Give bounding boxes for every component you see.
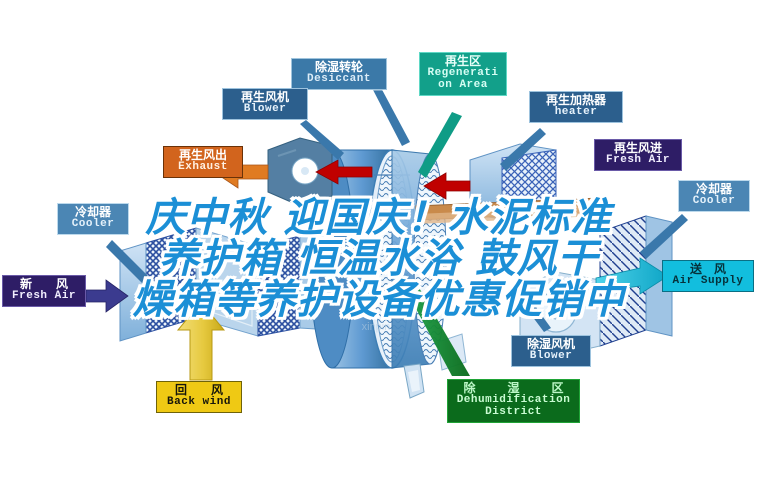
watermark: xinpin [362,321,391,333]
diagram-canvas: xinpin 除湿转轮 Desiccant 再生风机 Blower 再生区 Re… [0,0,757,488]
label-en: Air Supply [668,276,748,288]
label-cn: 再生风出 [169,149,237,162]
label-cn: 再生风机 [228,91,302,104]
label-dehumidification-district[interactable]: 除 湿 区 Dehumidification District [447,379,580,423]
label-en: Blower [517,351,585,363]
label-regeneration-blower[interactable]: 再生风机 Blower [222,88,308,120]
label-cooler-right[interactable]: 冷却器 Cooler [678,180,750,212]
label-cn: 新 风 [8,278,80,291]
label-fresh-air-inlet[interactable]: 新 风 Fresh Air [2,275,86,307]
label-en-line2: on Area [425,80,501,92]
label-en: Cooler [63,219,123,231]
label-air-supply[interactable]: 送 风 Air Supply [662,260,754,292]
label-cn: 冷却器 [684,183,744,196]
lower-duct [404,364,424,398]
label-regeneration-exhaust[interactable]: 再生风出 Exhaust [163,146,243,178]
label-cn: 除 湿 区 [453,382,574,395]
label-cn: 再生区 [425,55,501,68]
label-cooler-left[interactable]: 冷却器 Cooler [57,203,129,235]
label-regeneration-fresh-air-in[interactable]: 再生风进 Fresh Air [594,139,682,171]
label-en: Back wind [162,397,236,409]
label-cn: 除湿转轮 [297,61,381,74]
label-en-line2: District [453,407,574,419]
label-regeneration-area[interactable]: 再生区 Regenerati on Area [419,52,507,96]
label-cn: 除湿风机 [517,338,585,351]
label-en: Exhaust [169,162,237,174]
label-en: Fresh Air [600,155,676,167]
label-en: Cooler [684,196,744,208]
label-cn: 再生加热器 [535,94,617,107]
label-regeneration-heater[interactable]: 再生加热器 heater [529,91,623,123]
label-dehumidification-blower[interactable]: 除湿风机 Blower [511,335,591,367]
label-back-wind[interactable]: 回 风 Back wind [156,381,242,413]
regeneration-area-leader [418,112,462,178]
label-cn: 冷却器 [63,206,123,219]
label-en: heater [535,107,617,119]
label-en: Fresh Air [8,291,80,303]
label-cn: 再生风进 [600,142,676,155]
label-en: Desiccant [297,74,381,86]
label-cn: 回 风 [162,384,236,397]
label-cn: 送 风 [668,263,748,276]
label-desiccant-rotor[interactable]: 除湿转轮 Desiccant [291,58,387,90]
label-en: Blower [228,104,302,116]
